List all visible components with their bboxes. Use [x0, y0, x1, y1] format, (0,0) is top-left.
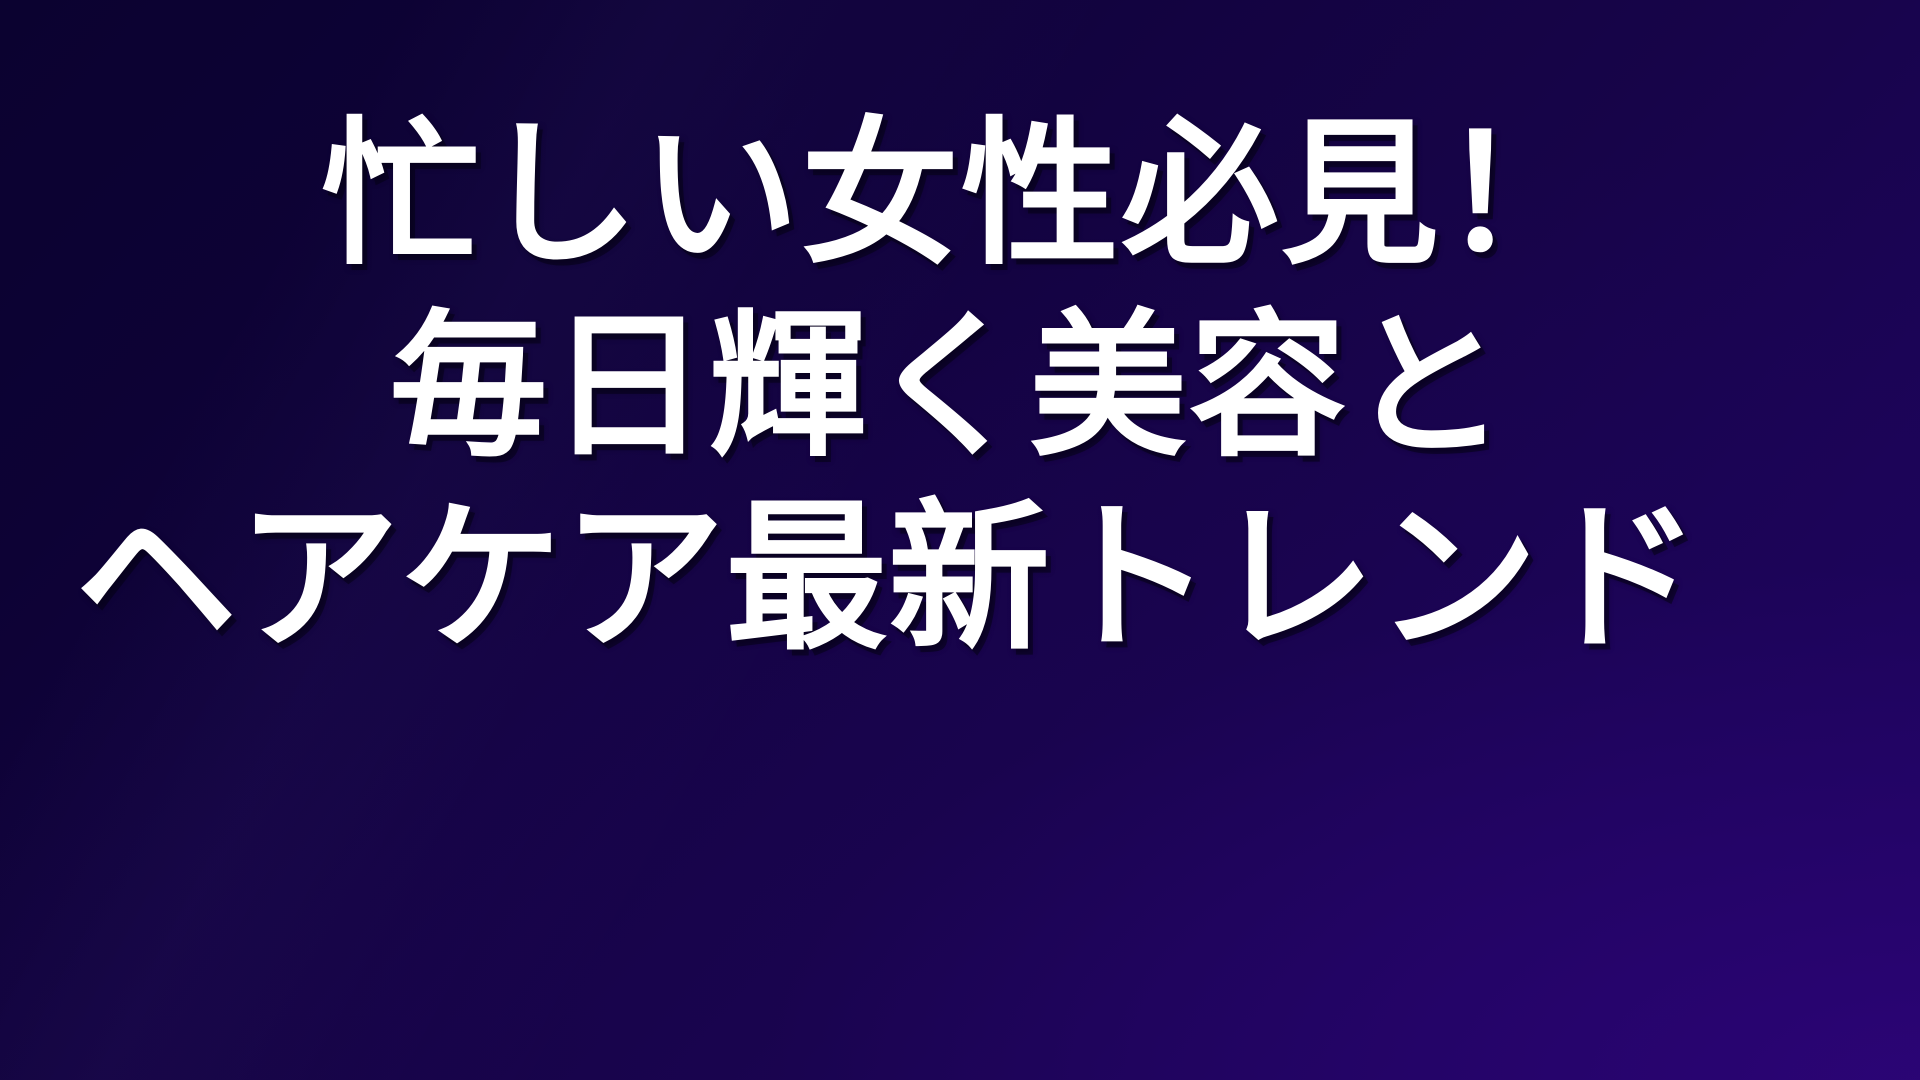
headline-line-1: 忙しい女性必見！ [321, 116, 1600, 274]
headline-line-2: 毎日輝く美容と [389, 308, 1508, 466]
title-slide: 忙しい女性必見！ 毎日輝く美容と ヘアケア最新トレンド [0, 0, 1920, 1080]
headline-block: 忙しい女性必見！ 毎日輝く美容と ヘアケア最新トレンド [0, 116, 1920, 660]
headline-line-3: ヘアケア最新トレンド [75, 498, 1701, 660]
